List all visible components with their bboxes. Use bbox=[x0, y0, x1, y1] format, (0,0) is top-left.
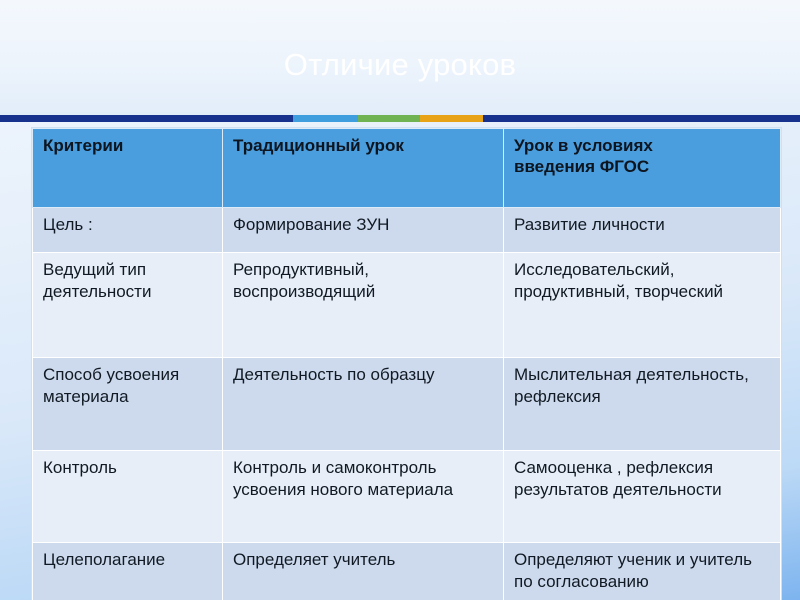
table-header-row: Критерии Традиционный урок Урок в услови… bbox=[33, 129, 781, 208]
table-row: Способ усвоения материала Деятельность п… bbox=[33, 358, 781, 451]
cell-fgos: Мыслительная деятельность, рефлексия bbox=[504, 358, 781, 451]
cell-criterion: Контроль bbox=[33, 451, 223, 543]
page-title: Отличие уроков bbox=[0, 46, 800, 84]
table-row: Целеполагание Определяет учитель Определ… bbox=[33, 543, 781, 600]
cell-fgos: Самооценка , рефлексия результатов деяте… bbox=[504, 451, 781, 543]
accent-segment-navy-left bbox=[0, 115, 293, 122]
decorative-accent-bar bbox=[0, 115, 800, 122]
table-row: Контроль Контроль и самоконтроль усвоени… bbox=[33, 451, 781, 543]
accent-segment-navy-right bbox=[483, 115, 800, 122]
cell-criterion: Способ усвоения материала bbox=[33, 358, 223, 451]
cell-fgos: Развитие личности bbox=[504, 208, 781, 253]
title-banner: Отличие уроков bbox=[0, 0, 800, 115]
cell-criterion: Целеполагание bbox=[33, 543, 223, 600]
table-row: Ведущий тип деятельности Репродуктивный,… bbox=[33, 253, 781, 358]
table-header: Критерии Традиционный урок Урок в услови… bbox=[33, 129, 781, 208]
cell-traditional: Определяет учитель bbox=[223, 543, 504, 600]
accent-segment-orange bbox=[420, 115, 483, 122]
lesson-comparison-table: Критерии Традиционный урок Урок в услови… bbox=[32, 128, 781, 600]
cell-fgos: Исследовательский, продуктивный, творчес… bbox=[504, 253, 781, 358]
column-header-fgos-line2: введения ФГОС bbox=[514, 156, 772, 177]
table-row: Цель : Формирование ЗУН Развитие личност… bbox=[33, 208, 781, 253]
cell-fgos: Определяют ученик и учитель по согласова… bbox=[504, 543, 781, 600]
cell-traditional: Репродуктивный, воспроизводящий bbox=[223, 253, 504, 358]
slide-canvas: Отличие уроков Критерии Традиционный уро… bbox=[0, 0, 800, 600]
column-header-criteria: Критерии bbox=[33, 129, 223, 208]
column-header-fgos-line1: Урок в условиях bbox=[514, 135, 772, 156]
column-header-traditional-lesson: Традиционный урок bbox=[223, 129, 504, 208]
cell-criterion: Ведущий тип деятельности bbox=[33, 253, 223, 358]
column-header-fgos-lesson: Урок в условиях введения ФГОС bbox=[504, 129, 781, 208]
accent-segment-green bbox=[358, 115, 420, 122]
cell-traditional: Контроль и самоконтроль усвоения нового … bbox=[223, 451, 504, 543]
table-body: Цель : Формирование ЗУН Развитие личност… bbox=[33, 208, 781, 600]
cell-traditional: Формирование ЗУН bbox=[223, 208, 504, 253]
cell-traditional: Деятельность по образцу bbox=[223, 358, 504, 451]
cell-criterion: Цель : bbox=[33, 208, 223, 253]
accent-segment-blue bbox=[293, 115, 358, 122]
